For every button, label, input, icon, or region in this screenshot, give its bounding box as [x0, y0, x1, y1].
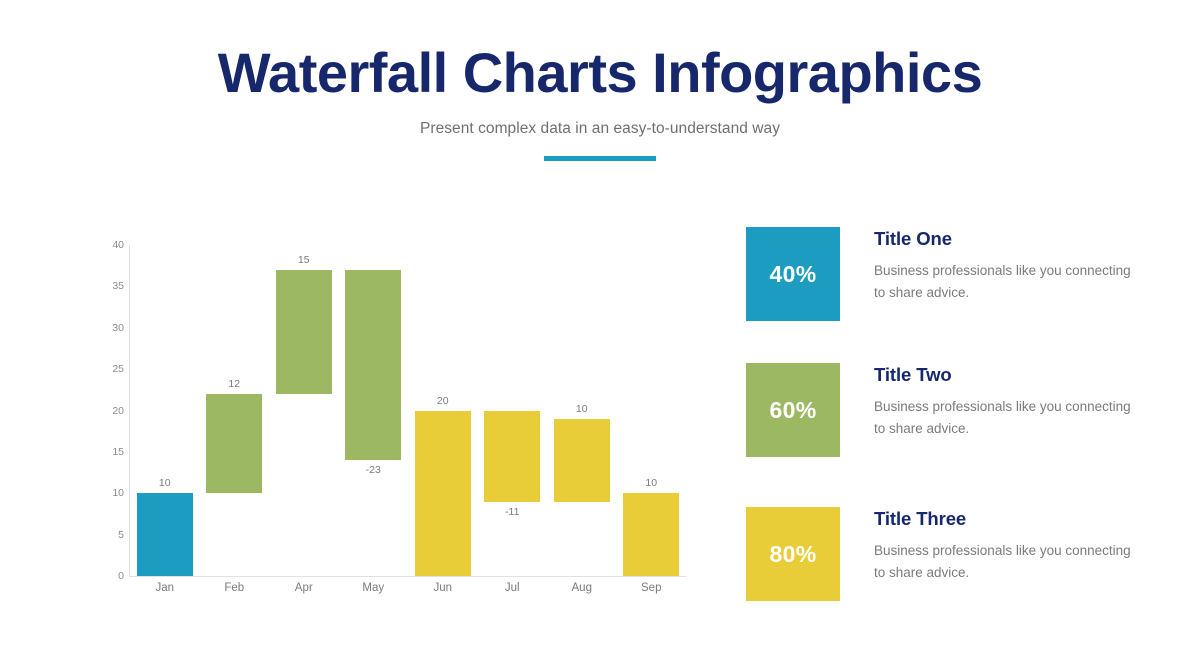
card-title: Title Two: [874, 365, 1134, 385]
card-description: Business professionals like you connecti…: [874, 385, 1134, 440]
x-axis-tick-label: Apr: [269, 583, 339, 595]
bar-value-label: 10: [554, 404, 610, 415]
info-card[interactable]: 40%Title OneBusiness professionals like …: [746, 227, 1146, 321]
x-axis-tick-label: Sep: [617, 583, 687, 595]
page-title: Waterfall Charts Infographics: [0, 44, 1200, 103]
y-axis-tick-label: 5: [98, 529, 124, 540]
card-percentage-value: 40%: [770, 261, 817, 288]
card-description: Business professionals like you connecti…: [874, 529, 1134, 584]
cards-panel: 40%Title OneBusiness professionals like …: [746, 210, 1146, 650]
header: Waterfall Charts Infographics Present co…: [0, 0, 1200, 161]
bar-value-label: -23: [345, 465, 401, 476]
y-axis-tick-label: 35: [98, 281, 124, 292]
card-title: Title One: [874, 229, 1134, 249]
card-body: Title OneBusiness professionals like you…: [874, 229, 1134, 304]
card-percentage-value: 80%: [770, 541, 817, 568]
x-axis-tick-label: Aug: [547, 583, 617, 595]
y-axis-tick-label: 30: [98, 323, 124, 334]
waterfall-chart: 4035302520151050 101215-2320-111010 JanF…: [96, 226, 696, 606]
card-description: Business professionals like you connecti…: [874, 249, 1134, 304]
x-axis-tick-label: Feb: [200, 583, 270, 595]
chart-bar: [345, 270, 401, 460]
y-axis-tick-label: 15: [98, 447, 124, 458]
card-body: Title ThreeBusiness professionals like y…: [874, 509, 1134, 584]
chart-bar: [484, 411, 540, 502]
chart-bar: [137, 493, 193, 576]
chart-bar: [554, 419, 610, 502]
chart-bar: [206, 394, 262, 493]
x-axis-tick-label: Jul: [478, 583, 548, 595]
chart-bar: [415, 411, 471, 577]
card-title: Title Three: [874, 509, 1134, 529]
x-axis-tick-label: Jan: [130, 583, 200, 595]
bar-value-label: 12: [206, 379, 262, 390]
y-axis-tick-label: 40: [98, 240, 124, 251]
chart-bar: [623, 493, 679, 576]
y-axis-tick-label: 10: [98, 488, 124, 499]
card-body: Title TwoBusiness professionals like you…: [874, 365, 1134, 440]
info-card[interactable]: 60%Title TwoBusiness professionals like …: [746, 363, 1146, 457]
info-card[interactable]: 80%Title ThreeBusiness professionals lik…: [746, 507, 1146, 601]
y-axis-tick-label: 20: [98, 405, 124, 416]
accent-divider: [544, 156, 656, 161]
bar-value-label: 10: [623, 478, 679, 489]
chart-bar: [276, 270, 332, 394]
main-content: 4035302520151050 101215-2320-111010 JanF…: [0, 210, 1200, 650]
y-axis-ticks: 4035302520151050: [96, 245, 124, 576]
card-percentage-badge: 40%: [746, 227, 840, 321]
bar-value-label: 20: [415, 396, 471, 407]
bar-value-label: -11: [484, 507, 540, 518]
card-percentage-badge: 80%: [746, 507, 840, 601]
card-percentage-badge: 60%: [746, 363, 840, 457]
card-percentage-value: 60%: [770, 397, 817, 424]
bar-value-label: 10: [137, 478, 193, 489]
y-axis-tick-label: 25: [98, 364, 124, 375]
page-subtitle: Present complex data in an easy-to-under…: [0, 103, 1200, 138]
y-axis-tick-label: 0: [98, 571, 124, 582]
x-axis-tick-label: Jun: [408, 583, 478, 595]
x-axis-tick-label: May: [339, 583, 409, 595]
bar-value-label: 15: [276, 255, 332, 266]
x-axis-line: [129, 576, 686, 577]
chart-plot-area: 101215-2320-111010: [130, 245, 686, 576]
